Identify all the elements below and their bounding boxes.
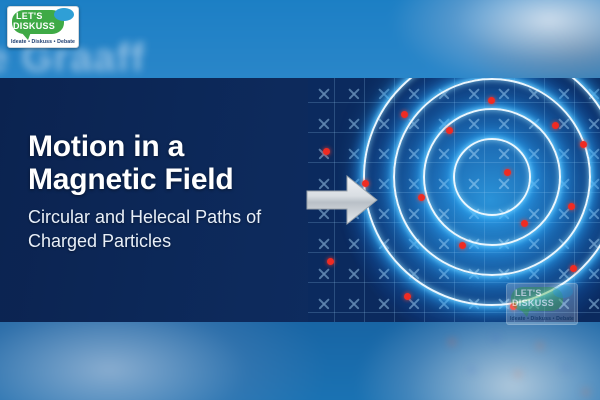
charged-particle [446, 127, 453, 134]
charged-particle [504, 169, 511, 176]
subtitle-line-1: Circular and Helecal Paths of [28, 207, 261, 227]
brand-logo-tagline: Ideate • Diskuss • Debate [8, 39, 78, 45]
promo-banner: e Graaff Motion in a M [0, 0, 600, 400]
brand-logo[interactable]: LET'S DISKUSS Ideate • Diskuss • Debate [7, 6, 79, 48]
field-x-marker [377, 297, 391, 311]
charged-particle [459, 242, 466, 249]
brand-watermark: LET'S DISKUSS Ideate • Diskuss • Debate [506, 283, 578, 325]
charged-particle [418, 194, 425, 201]
watermark-line-1: LET'S [515, 288, 542, 298]
ellipse-accent-icon [54, 8, 74, 21]
charged-particle [404, 293, 411, 300]
field-x-marker [377, 267, 391, 281]
field-x-marker [587, 297, 600, 311]
background-bokeh-dots [440, 330, 600, 400]
charged-particle [488, 97, 495, 104]
page-subtitle: Circular and Helecal Paths of Charged Pa… [28, 205, 328, 253]
field-x-marker [347, 147, 361, 161]
brand-logo-line-1: LET'S [16, 11, 43, 21]
field-x-marker [317, 297, 331, 311]
field-x-marker [347, 237, 361, 251]
brand-logo-line-2: DISKUSS [13, 21, 55, 31]
charged-particle [570, 265, 577, 272]
field-x-marker [317, 87, 331, 101]
watermark-line-2: DISKUSS [512, 298, 554, 308]
field-x-marker [587, 267, 600, 281]
subtitle-line-2: Charged Particles [28, 231, 171, 251]
charged-particle [580, 141, 587, 148]
hero-text: Motion in a Magnetic Field Circular and … [28, 130, 328, 253]
page-title: Motion in a Magnetic Field [28, 130, 328, 196]
title-line-1: Motion in a [28, 130, 184, 163]
field-x-marker [437, 297, 451, 311]
title-line-2: Magnetic Field [28, 163, 234, 196]
charged-particle [552, 122, 559, 129]
field-x-marker [347, 297, 361, 311]
charged-particle [568, 203, 575, 210]
charged-particle [327, 258, 334, 265]
watermark-tagline: Ideate • Diskuss • Debate [507, 316, 577, 322]
field-x-marker [347, 267, 361, 281]
charged-particle [521, 220, 528, 227]
field-x-marker [317, 117, 331, 131]
field-x-marker [347, 117, 361, 131]
field-x-marker [347, 87, 361, 101]
watermark-ellipse-accent-icon [553, 285, 573, 298]
field-x-marker [317, 267, 331, 281]
charged-particle [401, 111, 408, 118]
